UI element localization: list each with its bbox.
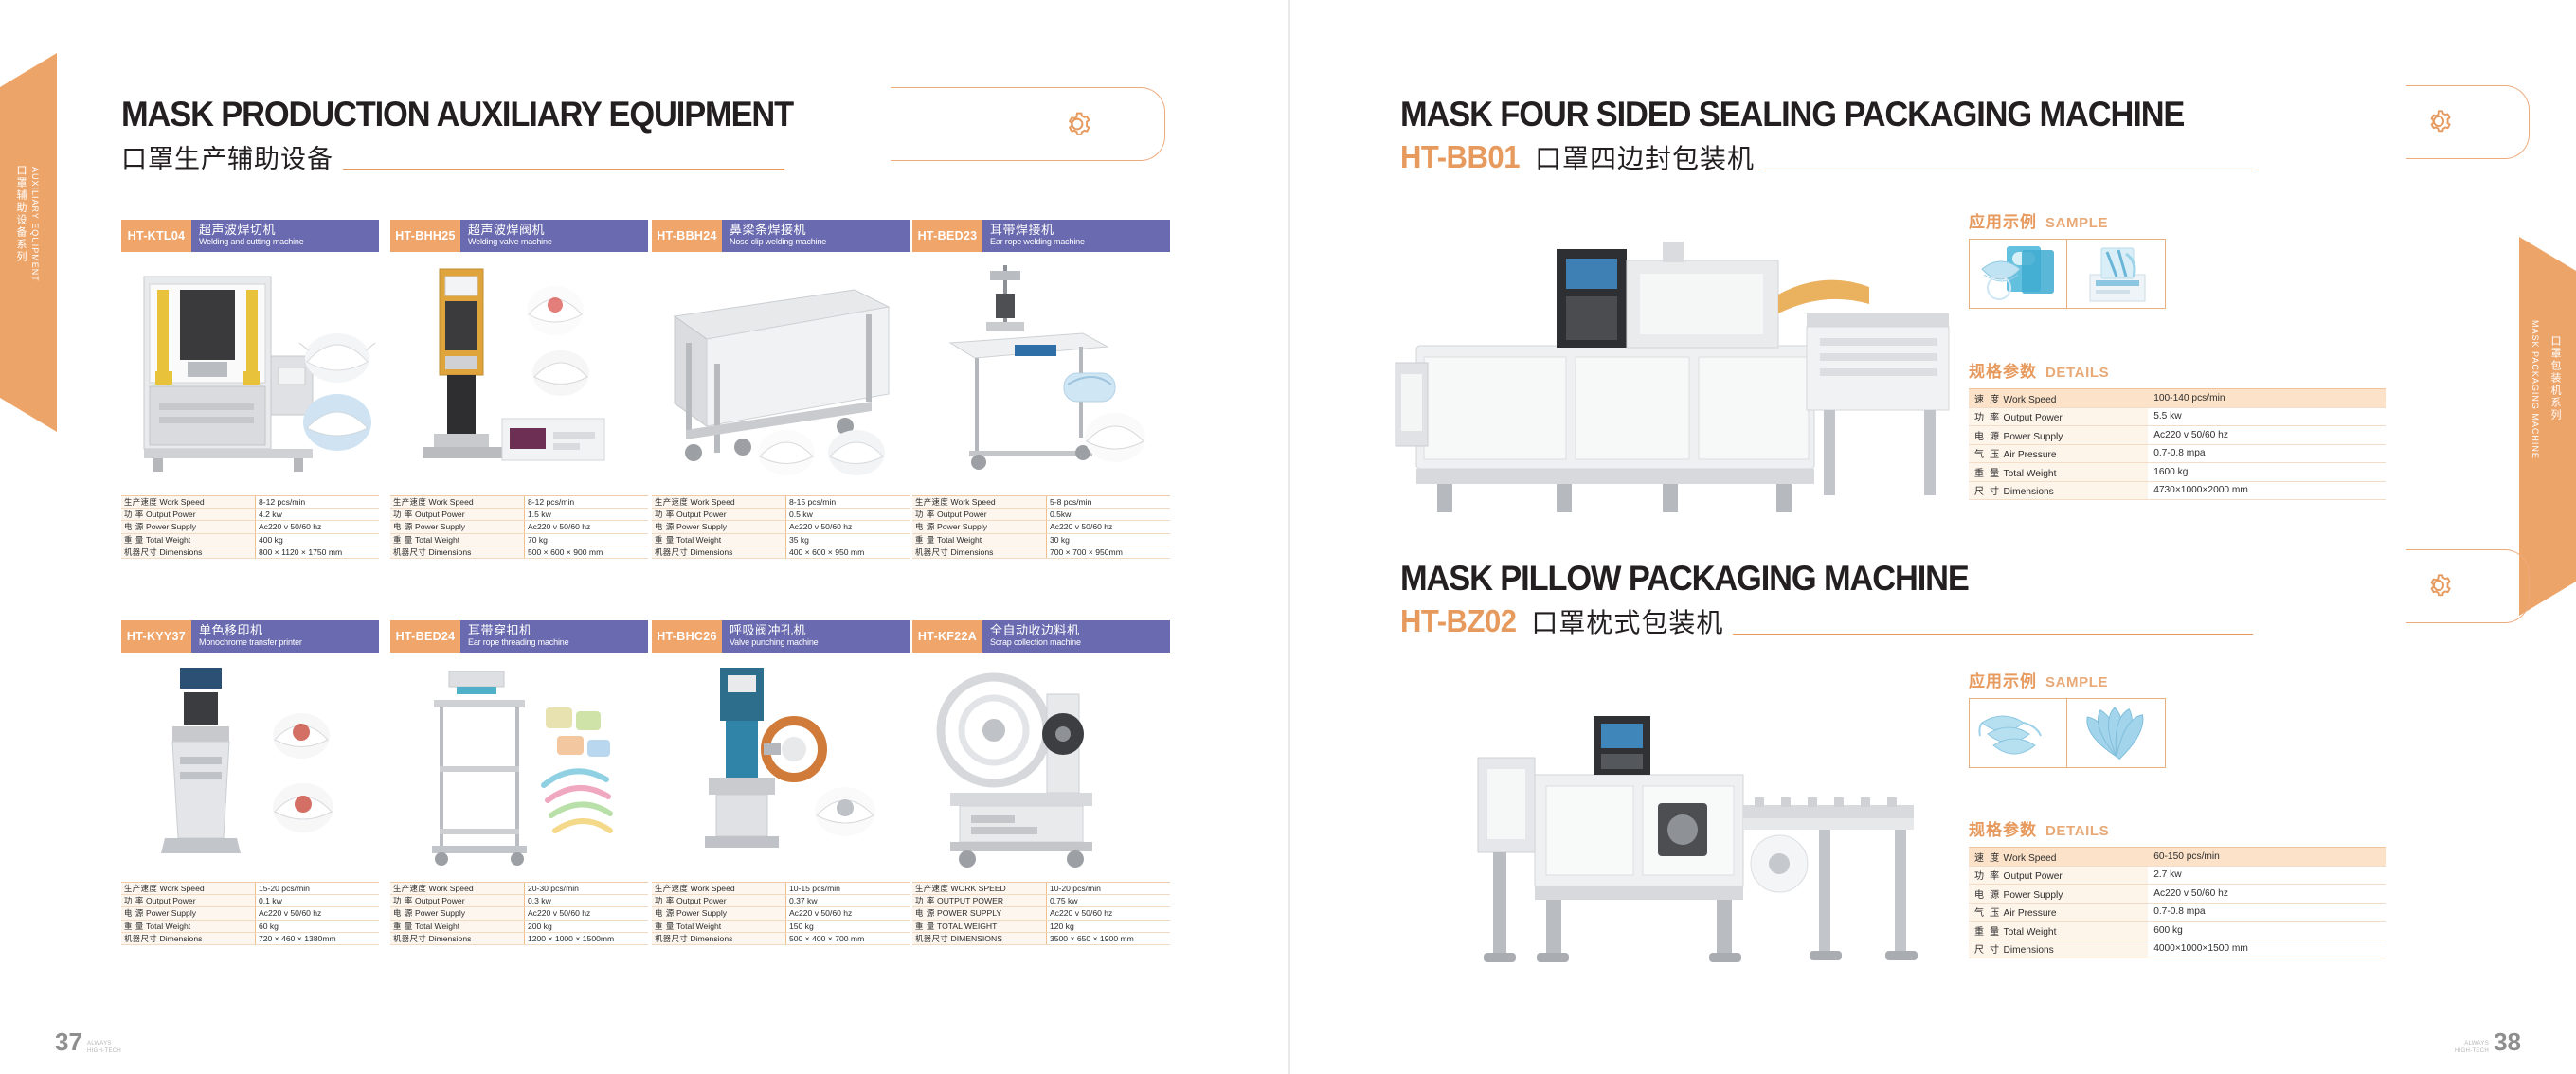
detail-value: 2.7 kw [2148, 866, 2386, 885]
spec-label-en: Output Power [146, 896, 196, 905]
detail-label-en: Power Supply [2004, 890, 2063, 901]
spec-label-work-speed: 生产速度 Work Speed [912, 496, 1046, 509]
spec-label-output-power: 功 率 Output Power [912, 509, 1046, 521]
spec-label-cn: 重 量 [655, 922, 675, 931]
spec-label-output-power: 功 率 OUTPUT POWER [912, 895, 1046, 907]
table-row: 电 源 Power Supply Ac220 v 50/60 hz [121, 521, 379, 533]
spec-label-cn: 机器尺寸 [915, 547, 948, 557]
sample-image-cell [1969, 239, 2067, 309]
sample-title: 应用示例 SAMPLE [1969, 668, 2166, 691]
right-edge-tab-label-en: MASK PACKAGING MACHINE [2531, 320, 2540, 459]
catalog-spread: 口罩辅助设备系列 AUXILIARY EQUIPMENT 口罩包装机系列 MAS… [0, 0, 2576, 1074]
detail-label-cn: 功 率 [1974, 413, 2001, 423]
spec-label-power-supply: 电 源 Power Supply [652, 907, 785, 920]
product-name-en: Monochrome transfer printer [199, 638, 365, 648]
spec-label-en: Power Supply [146, 522, 196, 531]
spec-label-power-supply: 电 源 Power Supply [390, 521, 524, 533]
spec-label-en: Work Speed [160, 884, 205, 893]
spec-label-total-weight: 重 量 Total Weight [390, 920, 524, 932]
detail-label-en: Work Speed [2004, 853, 2057, 864]
table-row: 功 率 Output Power 2.7 kw [1969, 866, 2386, 885]
product-tab[interactable]: HT-BED23 耳带焊接机 Ear rope welding machine [912, 220, 1170, 252]
four-sided-sealing-packaging-machine-icon [1378, 204, 1966, 526]
sample-images-row [1969, 698, 2166, 768]
product-name-en: Nose clip welding machine [730, 238, 895, 247]
product-sku-badge: HT-BBH24 [652, 220, 722, 252]
spec-label-cn: 机器尺寸 [915, 934, 948, 943]
table-row: 重 量 Total Weight 400 kg [121, 533, 379, 546]
left-heading-en: MASK PRODUCTION AUXILIARY EQUIPMENT [121, 95, 738, 134]
product-name-en: Scrap collection machine [990, 638, 1156, 648]
product-name-cn: 超声波焊阀机 [468, 224, 642, 238]
footer-mark-line1: ALWAYS [87, 1041, 121, 1048]
table-row: 重 量 Total Weight 60 kg [121, 920, 379, 932]
spec-label-cn: 生产速度 [655, 884, 688, 893]
product-tab[interactable]: HT-BED24 耳带穿扣机 Ear rope threading machin… [390, 620, 648, 653]
table-row: 重 量 Total Weight 35 kg [652, 533, 910, 546]
section-sku: HT-BZ02 [1400, 603, 1517, 639]
table-row: 生产速度 Work Speed 20-30 pcs/min [390, 883, 648, 895]
spec-label-work-speed: 生产速度 Work Speed [652, 496, 785, 509]
spec-value-dimensions: 500 × 400 × 700 mm [785, 932, 910, 944]
spec-label-power-supply: 电 源 Power Supply [121, 907, 255, 920]
spec-label-dimensions: 机器尺寸 Dimensions [390, 932, 524, 944]
table-row: 机器尺寸 DIMENSIONS 3500 × 650 × 1900 mm [912, 932, 1170, 944]
left-heading-rule [343, 169, 784, 170]
product-card[interactable]: HT-KF22A 全自动收边料机 Scrap collection machin… [912, 620, 1170, 945]
spec-label-total-weight: 重 量 Total Weight [652, 533, 785, 546]
table-row: 电 源 POWER SUPPLY Ac220 v 50/60 hz [912, 907, 1170, 920]
product-photo [390, 252, 648, 492]
detail-label-en: Air Pressure [2004, 450, 2057, 460]
table-row: 速 度 Work Speed 100-140 pcs/min [1969, 389, 2386, 408]
table-row: 机器尺寸 Dimensions 800 × 1120 × 1750 mm [121, 546, 379, 558]
section-1-details: 规格参数 DETAILS 速 度 Work Speed 100-140 pcs/… [1969, 358, 2386, 500]
table-row: 电 源 Power Supply Ac220 v 50/60 hz [390, 521, 648, 533]
product-photo [912, 653, 1170, 878]
table-row: 电 源 Power Supply Ac220 v 50/60 hz [1969, 885, 2386, 904]
product-spec-table: 生产速度 Work Speed 10-15 pcs/min 功 率 Output… [652, 882, 910, 945]
table-row: 重 量 Total Weight 30 kg [912, 533, 1170, 546]
right-footer-mark: ALWAYS HIGH-TECH [2455, 1041, 2489, 1055]
detail-label-cn: 尺 寸 [1974, 487, 2001, 497]
spec-label-cn: 电 源 [124, 908, 144, 918]
spec-value-dimensions: 3500 × 650 × 1900 mm [1046, 932, 1170, 944]
table-row: 电 源 Power Supply Ac220 v 50/60 hz [652, 907, 910, 920]
spec-value-total-weight: 35 kg [785, 533, 910, 546]
detail-label: 气 压 Air Pressure [1969, 903, 2148, 922]
product-card[interactable]: HT-KYY37 单色移印机 Monochrome transfer print… [121, 620, 379, 945]
spec-label-dimensions: 机器尺寸 Dimensions [121, 932, 255, 944]
product-name-en: Ear rope threading machine [468, 638, 634, 648]
spec-label-en: Output Power [676, 510, 727, 519]
ear-rope-threading-machine-icon [390, 653, 648, 878]
spec-label-en: Work Speed [951, 497, 996, 507]
spec-label-cn: 重 量 [393, 535, 413, 545]
left-page-heading: MASK PRODUCTION AUXILIARY EQUIPMENT 口罩生产… [121, 95, 784, 175]
left-edge-tab-label-en: AUXILIARY EQUIPMENT [30, 167, 40, 282]
spec-label-en: Total Weight [415, 535, 459, 545]
product-spec-table: 生产速度 Work Speed 8-15 pcs/min 功 率 Output … [652, 495, 910, 559]
detail-value: 0.7-0.8 mpa [2148, 444, 2386, 463]
table-row: 生产速度 Work Speed 8-12 pcs/min [390, 496, 648, 509]
product-photo [121, 252, 379, 492]
product-photo [121, 653, 379, 878]
product-name-box: 耳带穿扣机 Ear rope threading machine [460, 620, 648, 653]
product-name-en: Valve punching machine [730, 638, 895, 648]
spec-label-cn: 生产速度 [915, 497, 948, 507]
spec-label-power-supply: 电 源 Power Supply [912, 521, 1046, 533]
spec-label-en: Output Power [146, 510, 196, 519]
spec-label-en: Output Power [415, 510, 465, 519]
spec-label-en: Work Speed [429, 497, 474, 507]
spec-value-power-supply: Ac220 v 50/60 hz [255, 521, 379, 533]
product-sku-badge: HT-KTL04 [121, 220, 191, 252]
spec-label-work-speed: 生产速度 Work Speed [652, 883, 785, 895]
detail-label-en: Work Speed [2004, 395, 2057, 405]
left-edge-tab: 口罩辅助设备系列 AUXILIARY EQUIPMENT [0, 53, 57, 432]
spec-value-dimensions: 1200 × 1000 × 1500mm [524, 932, 648, 944]
product-name-cn: 呼吸阀冲孔机 [730, 625, 904, 638]
product-name-box: 全自动收边料机 Scrap collection machine [982, 620, 1170, 653]
product-tab[interactable]: HT-BHH25 超声波焊阀机 Welding valve machine [390, 220, 648, 252]
details-title-cn: 规格参数 [1969, 816, 2037, 840]
detail-label: 尺 寸 Dimensions [1969, 940, 2148, 958]
detail-label-en: Output Power [2004, 413, 2063, 423]
table-row: 电 源 Power Supply Ac220 v 50/60 hz [912, 521, 1170, 533]
spec-label-en: Work Speed [429, 884, 474, 893]
spec-label-total-weight: 重 量 Total Weight [121, 920, 255, 932]
spec-label-en: Power Supply [676, 908, 727, 918]
spec-label-en: Total Weight [415, 922, 459, 931]
spec-value-total-weight: 150 kg [785, 920, 910, 932]
spec-value-work-speed: 8-15 pcs/min [785, 496, 910, 509]
product-photo [652, 252, 910, 492]
spec-label-cn: 重 量 [124, 922, 144, 931]
spec-value-power-supply: Ac220 v 50/60 hz [1046, 907, 1170, 920]
product-name-en: Ear rope welding machine [990, 238, 1156, 247]
spec-value-total-weight: 200 kg [524, 920, 648, 932]
spec-value-total-weight: 60 kg [255, 920, 379, 932]
table-row: 重 量 Total Weight 200 kg [390, 920, 648, 932]
spec-label-en: Output Power [415, 896, 465, 905]
spec-value-total-weight: 120 kg [1046, 920, 1170, 932]
right-section-2-heading: MASK PILLOW PACKAGING MACHINE HT-BZ02 口罩… [1400, 559, 2253, 640]
detail-label-en: Power Supply [2004, 432, 2063, 442]
spec-label-en: DIMENSIONS [951, 934, 1002, 943]
detail-value: Ac220 v 50/60 hz [2148, 885, 2386, 904]
product-sku-badge: HT-KYY37 [121, 620, 191, 653]
table-row: 功 率 Output Power 5.5 kw [1969, 407, 2386, 426]
table-row: 机器尺寸 Dimensions 500 × 600 × 900 mm [390, 546, 648, 558]
section-heading-en: MASK FOUR SIDED SEALING PACKAGING MACHIN… [1400, 95, 2193, 134]
product-card[interactable]: HT-KTL04 超声波焊切机 Welding and cutting mach… [121, 220, 379, 559]
product-card[interactable]: HT-BBH24 鼻梁条焊接机 Nose clip welding machin… [652, 220, 910, 559]
spec-label-cn: 功 率 [393, 896, 413, 905]
table-row: 气 压 Air Pressure 0.7-0.8 mpa [1969, 903, 2386, 922]
spec-label-total-weight: 重 量 TOTAL WEIGHT [912, 920, 1046, 932]
details-title: 规格参数 DETAILS [1969, 358, 2386, 382]
left-edge-tab-label-cn: 口罩辅助设备系列 [13, 165, 28, 263]
detail-label: 尺 寸 Dimensions [1969, 481, 2148, 500]
spec-label-output-power: 功 率 Output Power [121, 509, 255, 521]
gear-icon [1061, 108, 1093, 140]
table-row: 重 量 Total Weight 150 kg [652, 920, 910, 932]
product-sku-badge: HT-BED24 [390, 620, 460, 653]
spec-label-output-power: 功 率 Output Power [652, 895, 785, 907]
spec-value-work-speed: 20-30 pcs/min [524, 883, 648, 895]
right-edge-tab-label-cn: 口罩包装机系列 [2548, 335, 2563, 421]
table-row: 电 源 Power Supply Ac220 v 50/60 hz [652, 521, 910, 533]
spec-label-cn: 功 率 [393, 510, 413, 519]
product-spec-table: 生产速度 WORK SPEED 10-20 pcs/min 功 率 OUTPUT… [912, 882, 1170, 945]
details-title: 规格参数 DETAILS [1969, 816, 2386, 840]
product-card[interactable]: HT-BED24 耳带穿扣机 Ear rope threading machin… [390, 620, 648, 945]
spec-label-en: TOTAL WEIGHT [937, 922, 997, 931]
product-name-box: 耳带焊接机 Ear rope welding machine [982, 220, 1170, 252]
product-name-box: 超声波焊阀机 Welding valve machine [460, 220, 648, 252]
spec-label-en: POWER SUPPLY [937, 908, 1001, 918]
spec-label-cn: 电 源 [655, 908, 675, 918]
spec-label-cn: 重 量 [124, 535, 144, 545]
spec-label-total-weight: 重 量 Total Weight [652, 920, 785, 932]
spec-label-output-power: 功 率 Output Power [390, 895, 524, 907]
spec-value-work-speed: 10-20 pcs/min [1046, 883, 1170, 895]
left-heading-cn: 口罩生产辅助设备 [121, 138, 333, 175]
spec-label-en: Total Weight [676, 922, 721, 931]
spec-label-cn: 功 率 [915, 896, 935, 905]
spec-label-work-speed: 生产速度 Work Speed [121, 883, 255, 895]
section-heading-en: MASK PILLOW PACKAGING MACHINE [1400, 559, 2193, 599]
detail-label-cn: 气 压 [1974, 450, 2001, 460]
product-spec-table: 生产速度 Work Speed 5-8 pcs/min 功 率 Output P… [912, 495, 1170, 559]
detail-label: 速 度 Work Speed [1969, 389, 2148, 408]
product-name-cn: 耳带焊接机 [990, 224, 1164, 238]
left-page-number: 37 [55, 1028, 82, 1057]
spec-value-output-power: 0.37 kw [785, 895, 910, 907]
detail-label-cn: 速 度 [1974, 853, 2001, 864]
spec-value-power-supply: Ac220 v 50/60 hz [524, 521, 648, 533]
spec-value-work-speed: 10-15 pcs/min [785, 883, 910, 895]
spec-label-dimensions: 机器尺寸 Dimensions [652, 546, 785, 558]
right-page-number: 38 [2494, 1028, 2521, 1057]
product-tab[interactable]: HT-KTL04 超声波焊切机 Welding and cutting mach… [121, 220, 379, 252]
spec-label-cn: 生产速度 [393, 497, 426, 507]
table-row: 功 率 Output Power 0.5kw [912, 509, 1170, 521]
product-name-cn: 超声波焊切机 [199, 224, 373, 238]
section-sku: HT-BB01 [1400, 139, 1520, 175]
detail-label-cn: 尺 寸 [1974, 945, 2001, 956]
spec-value-dimensions: 720 × 460 × 1380mm [255, 932, 379, 944]
spec-value-total-weight: 400 kg [255, 533, 379, 546]
section-heading-rule [1764, 170, 2253, 170]
spec-value-total-weight: 30 kg [1046, 533, 1170, 546]
detail-value: 5.5 kw [2148, 407, 2386, 426]
ultrasonic-valve-welding-machine-icon [390, 252, 648, 492]
spec-label-power-supply: 电 源 POWER SUPPLY [912, 907, 1046, 920]
spec-label-power-supply: 电 源 Power Supply [121, 521, 255, 533]
detail-value: 4730×1000×2000 mm [2148, 481, 2386, 500]
spec-label-en: Total Weight [146, 535, 190, 545]
spec-value-power-supply: Ac220 v 50/60 hz [524, 907, 648, 920]
stacked-blue-masks-photo-icon [1974, 702, 2062, 764]
table-row: 功 率 Output Power 0.1 kw [121, 895, 379, 907]
spec-label-output-power: 功 率 Output Power [121, 895, 255, 907]
spec-label-output-power: 功 率 Output Power [652, 509, 785, 521]
detail-label: 功 率 Output Power [1969, 407, 2148, 426]
spec-label-cn: 功 率 [655, 896, 675, 905]
spec-label-work-speed: 生产速度 Work Speed [390, 496, 524, 509]
detail-label-cn: 电 源 [1974, 890, 2001, 901]
section-heading-rule [1733, 634, 2253, 635]
sample-title-cn: 应用示例 [1969, 668, 2037, 691]
spec-label-en: Output Power [937, 510, 987, 519]
detail-label: 功 率 Output Power [1969, 866, 2148, 885]
product-name-en: Welding and cutting machine [199, 238, 365, 247]
sample-image-cell [2067, 698, 2166, 768]
detail-value: 0.7-0.8 mpa [2148, 903, 2386, 922]
gear-icon [2423, 570, 2454, 600]
spec-label-cn: 生产速度 [655, 497, 688, 507]
spec-label-dimensions: 机器尺寸 Dimensions [390, 546, 524, 558]
spec-label-en: Work Speed [160, 497, 205, 507]
sample-images-row [1969, 239, 2166, 309]
table-row: 重 量 Total Weight 600 kg [1969, 922, 2386, 940]
table-row: 速 度 Work Speed 60-150 pcs/min [1969, 848, 2386, 867]
product-name-box: 超声波焊切机 Welding and cutting machine [191, 220, 379, 252]
spec-label-en: Dimensions [429, 934, 472, 943]
mask-in-blue-sachet-photo-icon [1974, 242, 2062, 305]
table-row: 电 源 Power Supply Ac220 v 50/60 hz [121, 907, 379, 920]
product-name-cn: 全自动收边料机 [990, 625, 1164, 638]
spec-label-cn: 生产速度 [124, 884, 157, 893]
spec-value-output-power: 0.75 kw [1046, 895, 1170, 907]
spec-label-cn: 电 源 [124, 522, 144, 531]
gear-icon [2423, 106, 2454, 136]
table-row: 生产速度 Work Speed 8-12 pcs/min [121, 496, 379, 509]
detail-label: 电 源 Power Supply [1969, 426, 2148, 445]
product-tab[interactable]: HT-BHC26 呼吸阀冲孔机 Valve punching machine [652, 620, 910, 653]
product-name-box: 呼吸阀冲孔机 Valve punching machine [722, 620, 910, 653]
spec-label-en: Dimensions [951, 547, 994, 557]
spec-label-cn: 功 率 [915, 510, 935, 519]
product-sku-badge: HT-KF22A [912, 620, 982, 653]
detail-value: 1600 kg [2148, 463, 2386, 482]
product-spec-table: 生产速度 Work Speed 8-12 pcs/min 功 率 Output … [390, 495, 648, 559]
product-card[interactable]: HT-BHC26 呼吸阀冲孔机 Valve punching machine [652, 620, 910, 945]
spec-value-power-supply: Ac220 v 50/60 hz [1046, 521, 1170, 533]
spec-value-work-speed: 8-12 pcs/min [255, 496, 379, 509]
detail-label-cn: 气 压 [1974, 908, 2001, 919]
product-name-box: 单色移印机 Monochrome transfer printer [191, 620, 379, 653]
right-section-1-heading: MASK FOUR SIDED SEALING PACKAGING MACHIN… [1400, 95, 2253, 176]
spec-label-cn: 生产速度 [393, 884, 426, 893]
table-row: 功 率 OUTPUT POWER 0.75 kw [912, 895, 1170, 907]
table-row: 功 率 Output Power 0.37 kw [652, 895, 910, 907]
table-row: 重 量 TOTAL WEIGHT 120 kg [912, 920, 1170, 932]
detail-label-cn: 重 量 [1974, 927, 2001, 938]
spec-label-power-supply: 电 源 Power Supply [652, 521, 785, 533]
spec-label-en: Output Power [676, 896, 727, 905]
section-1-machine-photo [1378, 204, 1966, 530]
valve-punching-machine-icon [652, 653, 910, 878]
sample-title: 应用示例 SAMPLE [1969, 208, 2166, 232]
detail-value: 4000×1000×1500 mm [2148, 940, 2386, 958]
spec-value-work-speed: 15-20 pcs/min [255, 883, 379, 895]
section-heading-cn: 口罩四边封包装机 [1535, 138, 1755, 176]
spec-label-cn: 机器尺寸 [655, 547, 688, 557]
product-spec-table: 生产速度 Work Speed 8-12 pcs/min 功 率 Output … [121, 495, 379, 559]
fanned-blue-masks-photo-icon [2073, 702, 2160, 764]
spec-label-cn: 电 源 [393, 522, 413, 531]
nose-clip-welding-machine-icon [652, 252, 910, 492]
product-card[interactable]: HT-BHH25 超声波焊阀机 Welding valve machine [390, 220, 648, 559]
product-name-box: 鼻梁条焊接机 Nose clip welding machine [722, 220, 910, 252]
spec-value-output-power: 4.2 kw [255, 509, 379, 521]
product-name-en: Welding valve machine [468, 238, 634, 247]
spec-label-en: Power Supply [676, 522, 727, 531]
spec-label-dimensions: 机器尺寸 Dimensions [652, 932, 785, 944]
spec-value-dimensions: 500 × 600 × 900 mm [524, 546, 648, 558]
left-heading-ornament [891, 87, 1165, 161]
spec-value-dimensions: 700 × 700 × 950mm [1046, 546, 1170, 558]
spec-label-en: Work Speed [691, 884, 735, 893]
product-photo [652, 653, 910, 878]
spec-label-en: Power Supply [415, 908, 465, 918]
sample-title-en: SAMPLE [2045, 674, 2108, 690]
product-tab[interactable]: HT-BBH24 鼻梁条焊接机 Nose clip welding machin… [652, 220, 910, 252]
detail-label-en: Dimensions [2004, 945, 2054, 956]
table-row: 电 源 Power Supply Ac220 v 50/60 hz [390, 907, 648, 920]
table-row: 机器尺寸 Dimensions 1200 × 1000 × 1500mm [390, 932, 648, 944]
product-sku-badge: HT-BHH25 [390, 220, 460, 252]
product-photo [912, 252, 1170, 492]
table-row: 气 压 Air Pressure 0.7-0.8 mpa [1969, 444, 2386, 463]
page-gutter [1288, 0, 1290, 1074]
detail-label: 重 量 Total Weight [1969, 922, 2148, 940]
detail-label-cn: 速 度 [1974, 395, 2001, 405]
spec-label-en: Dimensions [160, 547, 203, 557]
spec-value-output-power: 0.3 kw [524, 895, 648, 907]
spec-label-cn: 功 率 [124, 896, 144, 905]
table-row: 尺 寸 Dimensions 4000×1000×1500 mm [1969, 940, 2386, 958]
footer-mark-line1: ALWAYS [2455, 1041, 2489, 1048]
detail-label: 速 度 Work Speed [1969, 848, 2148, 867]
sample-title-cn: 应用示例 [1969, 208, 2037, 232]
detail-value: Ac220 v 50/60 hz [2148, 426, 2386, 445]
spec-value-power-supply: Ac220 v 50/60 hz [785, 521, 910, 533]
product-tab[interactable]: HT-KYY37 单色移印机 Monochrome transfer print… [121, 620, 379, 653]
section-2-machine-photo [1402, 663, 1990, 990]
spec-label-en: Power Supply [937, 522, 987, 531]
spec-label-cn: 机器尺寸 [655, 934, 688, 943]
scrap-collection-machine-icon [912, 653, 1170, 878]
details-title-cn: 规格参数 [1969, 358, 2037, 382]
product-spec-table: 生产速度 Work Speed 15-20 pcs/min 功 率 Output… [121, 882, 379, 945]
spec-value-output-power: 1.5 kw [524, 509, 648, 521]
details-title-en: DETAILS [2045, 365, 2109, 381]
detail-value: 600 kg [2148, 922, 2386, 940]
product-name-cn: 单色移印机 [199, 625, 373, 638]
spec-value-power-supply: Ac220 v 50/60 hz [255, 907, 379, 920]
left-footer-mark: ALWAYS HIGH-TECH [87, 1041, 121, 1055]
spec-label-dimensions: 机器尺寸 DIMENSIONS [912, 932, 1046, 944]
product-tab[interactable]: HT-KF22A 全自动收边料机 Scrap collection machin… [912, 620, 1170, 653]
mask-box-packaging-photo-icon [2073, 242, 2160, 305]
footer-mark-line2: HIGH-TECH [2455, 1048, 2489, 1056]
product-sku-badge: HT-BED23 [912, 220, 982, 252]
product-card[interactable]: HT-BED23 耳带焊接机 Ear rope welding machine [912, 220, 1170, 559]
